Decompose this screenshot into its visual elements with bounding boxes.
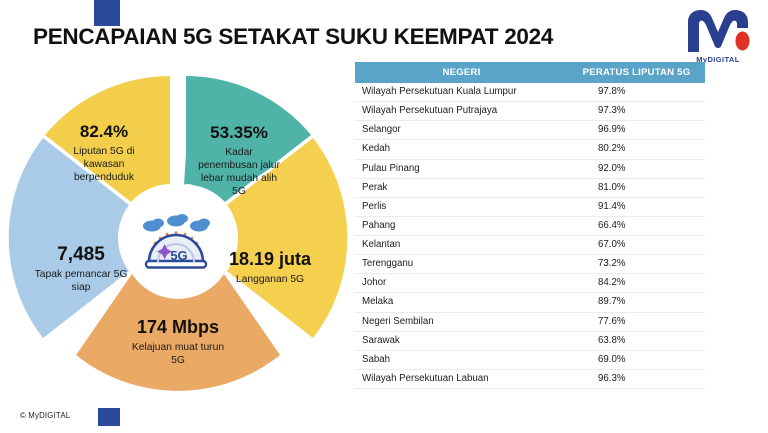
column-header-peratus: PERATUS LIPUTAN 5G	[568, 62, 705, 83]
pie-label-penetration-line1: Kadar	[225, 147, 253, 158]
cell-state-name: Sabah	[355, 350, 568, 369]
mydigital-logo-icon	[682, 8, 754, 54]
pie-label-penetration-line2: penembusan jalur	[198, 160, 280, 171]
table-row: Perlis91.4%	[355, 197, 705, 216]
cell-state-name: Selangor	[355, 121, 568, 140]
cell-state-name: Pahang	[355, 216, 568, 235]
cell-state-name: Melaka	[355, 293, 568, 312]
pie-label-sites-line2: siap	[72, 282, 91, 293]
table-row: Wilayah Persekutuan Putrajaya97.3%	[355, 102, 705, 121]
cell-coverage-percent: 66.4%	[568, 216, 705, 235]
cell-state-name: Kedah	[355, 140, 568, 159]
table-row: Negeri Sembilan77.6%	[355, 312, 705, 331]
cell-state-name: Pulau Pinang	[355, 159, 568, 178]
cell-coverage-percent: 84.2%	[568, 274, 705, 293]
pie-label-coverage-line3: berpenduduk	[74, 172, 135, 183]
cell-state-name: Wilayah Persekutuan Labuan	[355, 369, 568, 388]
pie-label-coverage-line2: kawasan	[84, 159, 125, 170]
table-row: Wilayah Persekutuan Kuala Lumpur97.8%	[355, 83, 705, 102]
pie-label-download-speed-line1: Kelajuan muat turun	[132, 342, 224, 353]
footer-copyright: © MyDIGITAL	[20, 411, 70, 420]
pie-label-penetration-line4: 5G	[232, 186, 246, 197]
cell-state-name: Kelantan	[355, 236, 568, 255]
table-row: Pahang66.4%	[355, 216, 705, 235]
cell-coverage-percent: 81.0%	[568, 178, 705, 197]
cell-state-name: Perak	[355, 178, 568, 197]
pie-label-coverage-line1: Liputan 5G di	[73, 146, 134, 157]
cell-coverage-percent: 96.9%	[568, 121, 705, 140]
cell-coverage-percent: 77.6%	[568, 312, 705, 331]
state-coverage-table: NEGERI PERATUS LIPUTAN 5G Wilayah Persek…	[355, 62, 689, 389]
table-row: Kelantan67.0%	[355, 236, 705, 255]
cell-state-name: Negeri Sembilan	[355, 312, 568, 331]
pie-label-subscriptions-line1: Langganan 5G	[236, 274, 304, 285]
pie-value-download-speed: 174 Mbps	[137, 317, 219, 337]
cell-state-name: Wilayah Persekutuan Kuala Lumpur	[355, 83, 568, 102]
pie-value-subscriptions: 18.19 juta	[229, 249, 312, 269]
table-row: Terengganu73.2%	[355, 255, 705, 274]
cell-coverage-percent: 63.8%	[568, 331, 705, 350]
table-header-row: NEGERI PERATUS LIPUTAN 5G	[355, 62, 705, 83]
cell-coverage-percent: 97.8%	[568, 83, 705, 102]
table-row: Selangor96.9%	[355, 121, 705, 140]
pie-value-penetration: 53.35%	[210, 123, 268, 142]
cell-state-name: Johor	[355, 274, 568, 293]
pie-label-penetration-line3: lebar mudah alih	[201, 173, 277, 184]
table-row: Sabah69.0%	[355, 350, 705, 369]
table-row: Wilayah Persekutuan Labuan96.3%	[355, 369, 705, 388]
cell-state-name: Wilayah Persekutuan Putrajaya	[355, 102, 568, 121]
cell-coverage-percent: 92.0%	[568, 159, 705, 178]
cell-coverage-percent: 91.4%	[568, 197, 705, 216]
table-row: Melaka89.7%	[355, 293, 705, 312]
header-accent-bar	[94, 0, 120, 26]
column-header-negeri: NEGERI	[355, 62, 568, 83]
cell-state-name: Perlis	[355, 197, 568, 216]
pie-value-sites: 7,485	[57, 244, 105, 265]
cell-coverage-percent: 80.2%	[568, 140, 705, 159]
pie-label-download-speed-line2: 5G	[171, 355, 185, 366]
cell-coverage-percent: 97.3%	[568, 102, 705, 121]
cell-coverage-percent: 67.0%	[568, 236, 705, 255]
5g-speedometer-icon: 5G	[138, 212, 214, 274]
cell-state-name: Sarawak	[355, 331, 568, 350]
footer-accent-square	[98, 408, 120, 426]
5g-icon-label: 5G	[170, 248, 187, 263]
cell-coverage-percent: 69.0%	[568, 350, 705, 369]
table-row: Kedah80.2%	[355, 140, 705, 159]
cell-state-name: Terengganu	[355, 255, 568, 274]
cell-coverage-percent: 73.2%	[568, 255, 705, 274]
pie-label-sites-line1: Tapak pemancar 5G	[35, 269, 128, 280]
cell-coverage-percent: 96.3%	[568, 369, 705, 388]
table-row: Johor84.2%	[355, 274, 705, 293]
table-row: Sarawak63.8%	[355, 331, 705, 350]
table-row: Perak81.0%	[355, 178, 705, 197]
table-row: Pulau Pinang92.0%	[355, 159, 705, 178]
pie-value-coverage: 82.4%	[80, 122, 128, 141]
page-title: PENCAPAIAN 5G SETAKAT SUKU KEEMPAT 2024	[33, 24, 553, 50]
cell-coverage-percent: 89.7%	[568, 293, 705, 312]
